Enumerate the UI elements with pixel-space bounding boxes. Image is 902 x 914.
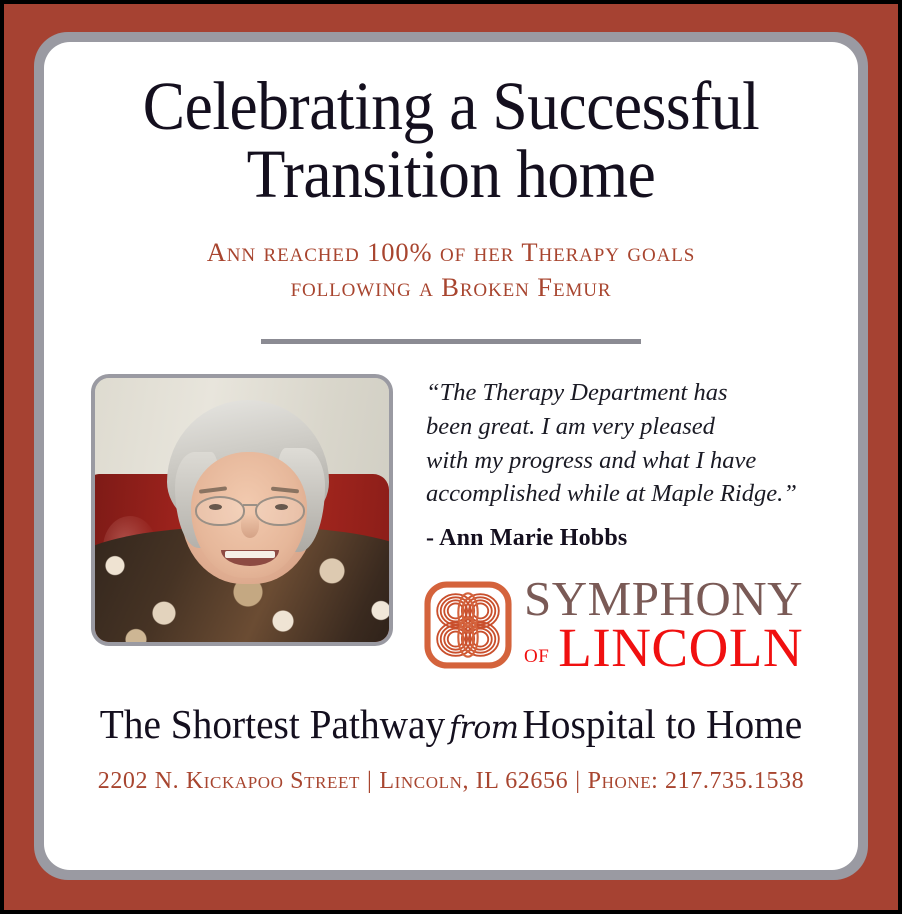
testimonial-quote: “The Therapy Department has been great. … (426, 376, 858, 511)
lens-left (195, 496, 245, 526)
resident-photo (91, 374, 393, 646)
quote-line-1: “The Therapy Department has (426, 376, 858, 410)
contact-address: 2202 N. Kickapoo Street|Lincoln, IL 6265… (44, 768, 858, 795)
address-separator-2: | (568, 768, 587, 794)
page-title: Celebrating a Successful Transition home (77, 42, 826, 209)
quote-line-2: been great. I am very pleased (426, 410, 858, 444)
flyer-root: Celebrating a Successful Transition home… (0, 0, 902, 914)
photo-image (95, 378, 389, 642)
logo-of-text: of (524, 638, 549, 668)
logo-lincoln-text: LINCOLN (558, 617, 803, 678)
tagline-part-2: Hospital to Home (522, 701, 802, 747)
subtitle-line-2: following a Broken Femur (96, 270, 806, 305)
logo-symphony-text: SYMPHONY (524, 576, 858, 621)
symphony-interlocking-circles-mark (424, 581, 512, 669)
gray-frame-border: Celebrating a Successful Transition home… (34, 32, 868, 880)
quote-attribution: - Ann Marie Hobbs (426, 525, 858, 552)
subtitle: Ann reached 100% of her Therapy goals fo… (44, 209, 858, 305)
address-phone: Phone: 217.735.1538 (588, 768, 805, 794)
logo-wordmark: SYMPHONY ofLINCOLN (524, 576, 858, 674)
section-divider (261, 339, 641, 344)
address-separator-1: | (360, 768, 379, 794)
quote-line-3: with my progress and what I have (426, 444, 858, 478)
tagline: The Shortest PathwayfromHospital to Home (60, 700, 841, 748)
quote-line-4: accomplished while at Maple Ridge.” (426, 477, 858, 511)
headline-line-1: Celebrating a Successful (143, 68, 760, 144)
tagline-script-word: from (445, 710, 522, 746)
flyer-card: Celebrating a Successful Transition home… (44, 42, 858, 870)
headline-line-2: Transition home (100, 140, 801, 208)
subtitle-line-1: Ann reached 100% of her Therapy goals (207, 237, 696, 267)
address-street: 2202 N. Kickapoo Street (98, 768, 360, 794)
testimonial-section: “The Therapy Department has been great. … (44, 344, 858, 674)
tagline-part-1: The Shortest Pathway (100, 701, 445, 747)
address-city-state-zip: Lincoln, IL 62656 (379, 768, 568, 794)
teeth-shape (225, 551, 275, 558)
lens-right (255, 496, 305, 526)
red-border-band: Celebrating a Successful Transition home… (4, 4, 898, 910)
symphony-of-lincoln-logo: SYMPHONY ofLINCOLN (424, 576, 858, 674)
nose-shape (241, 514, 259, 538)
quote-column: “The Therapy Department has been great. … (393, 374, 858, 674)
logo-second-line: ofLINCOLN (524, 623, 858, 674)
